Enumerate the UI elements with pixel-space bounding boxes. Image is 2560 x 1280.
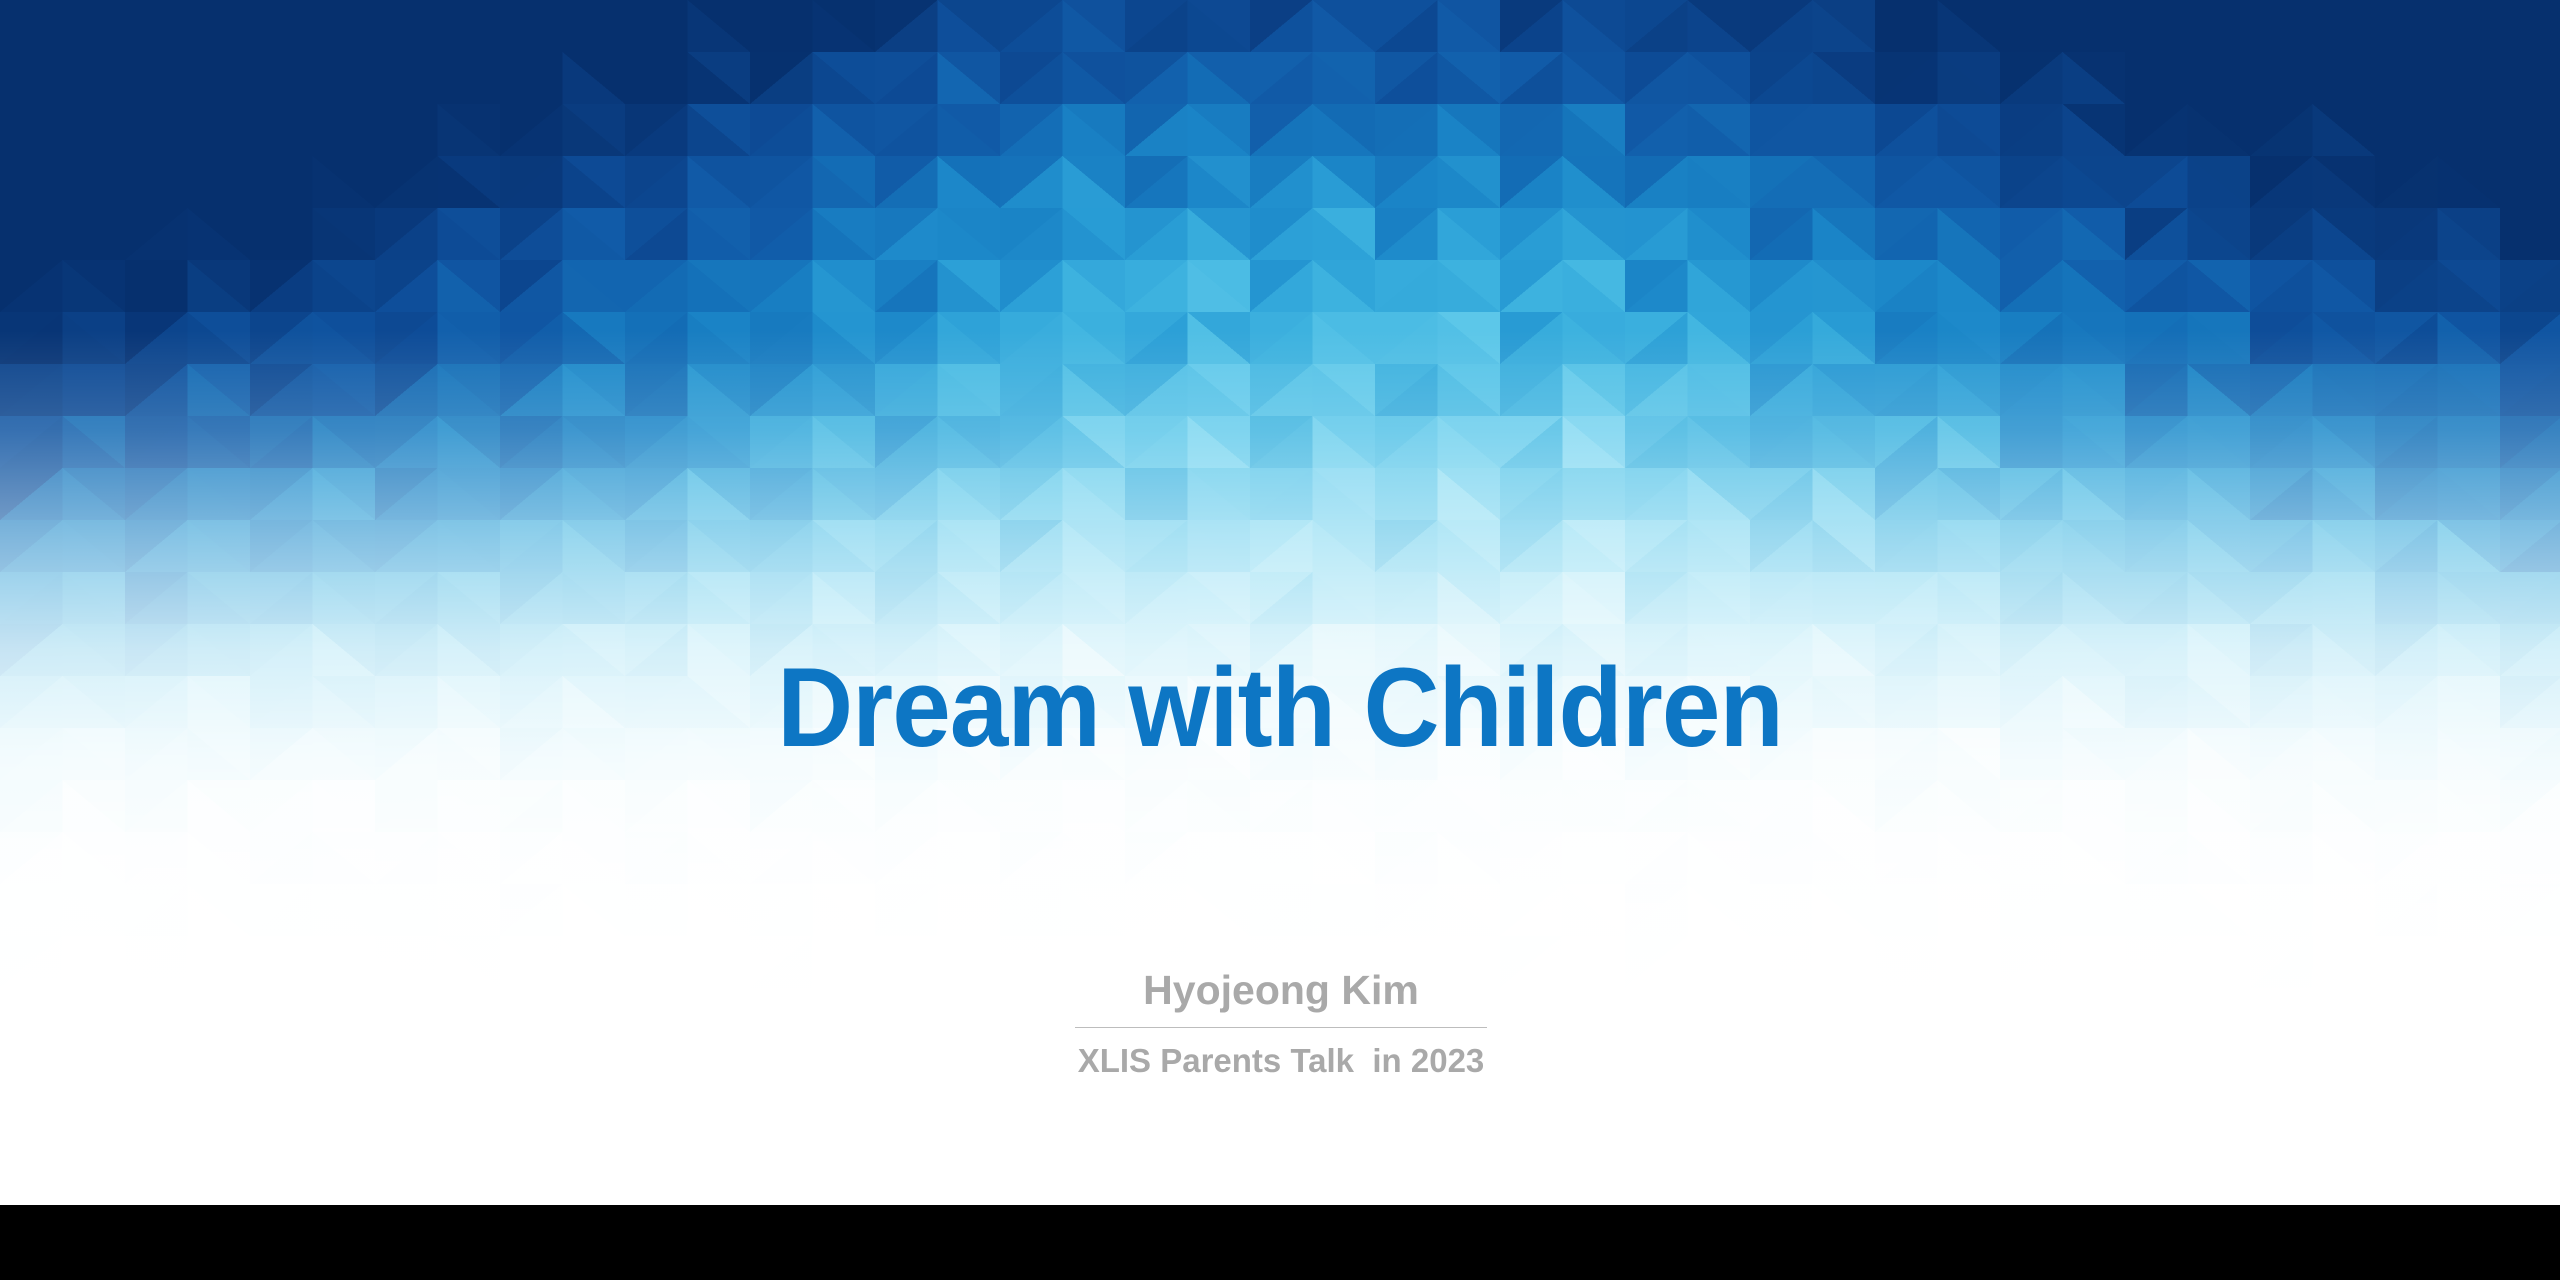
letterbox-bar — [0, 1205, 2560, 1280]
slide-canvas: Dream with Children Hyojeong Kim XLIS Pa… — [0, 0, 2560, 1205]
polygonal-background — [0, 0, 2560, 1205]
slide-root: Dream with Children Hyojeong Kim XLIS Pa… — [0, 0, 2560, 1280]
